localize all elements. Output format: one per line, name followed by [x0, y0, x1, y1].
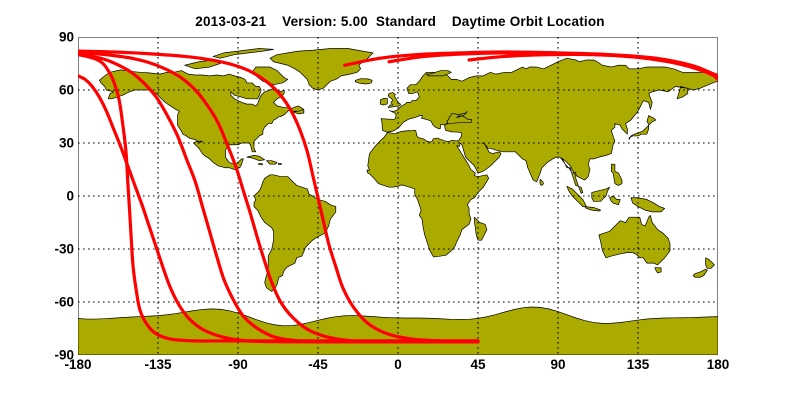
y-tick-label: -30	[38, 242, 74, 257]
x-tick-label: 135	[608, 357, 668, 372]
orbit-location-figure: 2013-03-21 Version: 5.00 Standard Daytim…	[0, 0, 800, 400]
x-tick-label: -90	[208, 357, 268, 372]
world-map-svg	[78, 37, 718, 355]
map-plot-area	[78, 37, 718, 355]
x-tick-label: 0	[368, 357, 428, 372]
x-tick-label: -180	[48, 357, 108, 372]
y-tick-label: 0	[38, 189, 74, 204]
land-layer	[78, 48, 718, 355]
x-tick-label: 90	[528, 357, 588, 372]
x-tick-label: 180	[688, 357, 748, 372]
x-tick-label: -45	[288, 357, 348, 372]
y-axis-labels: 90 60 30 0 -30 -60 -90	[30, 37, 74, 355]
x-tick-label: -135	[128, 357, 188, 372]
x-tick-label: 45	[448, 357, 508, 372]
y-tick-label: 60	[38, 83, 74, 98]
y-tick-label: -60	[38, 295, 74, 310]
y-tick-label: 90	[38, 30, 74, 45]
y-tick-label: 30	[38, 136, 74, 151]
figure-title: 2013-03-21 Version: 5.00 Standard Daytim…	[0, 14, 800, 29]
x-axis-labels: -180 -135 -90 -45 0 45 90 135 180	[78, 357, 718, 379]
